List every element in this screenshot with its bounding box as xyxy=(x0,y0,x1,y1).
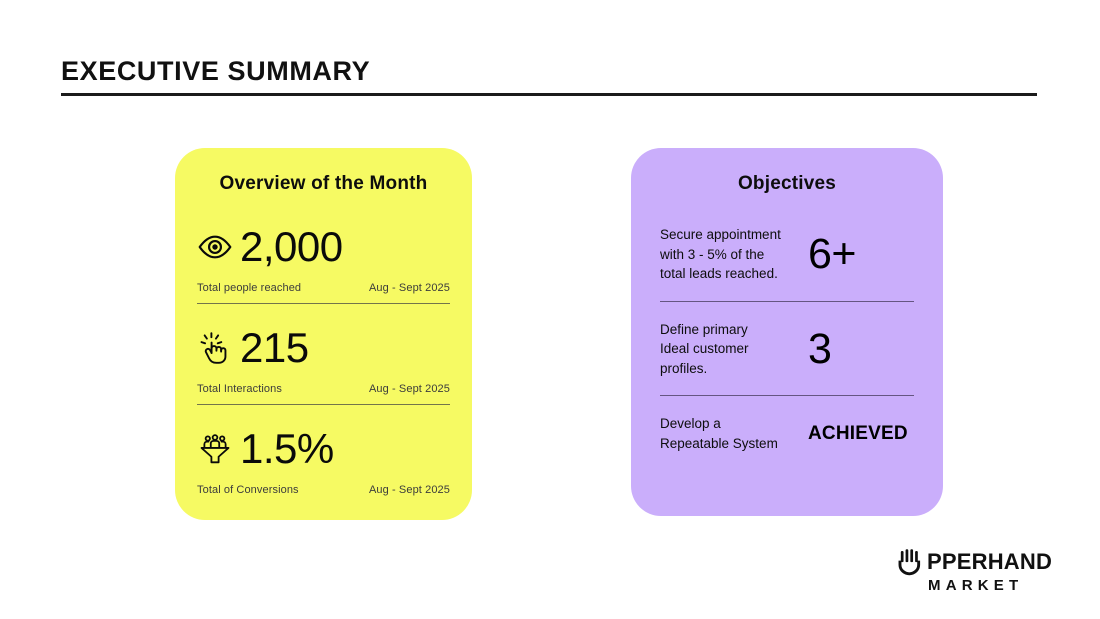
metric-footer: Total people reached Aug - Sept 2025 xyxy=(197,282,450,294)
objective-row: Secure appointment with 3 - 5% of the to… xyxy=(660,225,914,284)
click-hand-icon xyxy=(197,330,233,366)
objective-item: Define primary Ideal customer profiles. … xyxy=(660,320,914,397)
metric-main: 1.5% xyxy=(197,423,450,475)
metric-period: Aug - Sept 2025 xyxy=(369,383,450,395)
objectives-list: Secure appointment with 3 - 5% of the to… xyxy=(660,225,914,454)
metric-value: 2,000 xyxy=(240,226,343,268)
metric-label: Total Interactions xyxy=(197,383,282,395)
metric-period: Aug - Sept 2025 xyxy=(369,484,450,496)
metric-item: 1.5% Total of Conversions Aug - Sept 202… xyxy=(197,423,450,496)
objective-divider xyxy=(660,301,914,302)
title-divider xyxy=(61,93,1037,96)
objective-status: ACHIEVED xyxy=(808,424,914,443)
metric-label: Total people reached xyxy=(197,282,301,294)
objective-item: Secure appointment with 3 - 5% of the to… xyxy=(660,225,914,302)
logo-subtext: MARKET xyxy=(928,578,1042,593)
objective-divider xyxy=(660,395,914,396)
objective-text: Secure appointment with 3 - 5% of the to… xyxy=(660,225,781,284)
metric-footer: Total of Conversions Aug - Sept 2025 xyxy=(197,484,450,496)
logo-wordmark: PPERHAND xyxy=(927,551,1052,573)
conversion-funnel-icon xyxy=(197,431,233,467)
brand-logo: PPERHAND MARKET xyxy=(897,548,1042,596)
metric-divider xyxy=(197,404,450,405)
slide: EXECUTIVE SUMMARY Overview of the Month … xyxy=(0,0,1100,619)
overview-card: Overview of the Month 2,000 Total peopl xyxy=(175,148,472,520)
objectives-card-title: Objectives xyxy=(631,173,943,195)
objectives-card: Objectives Secure appointment with 3 - 5… xyxy=(631,148,943,516)
overview-card-title: Overview of the Month xyxy=(175,173,472,195)
metric-footer: Total Interactions Aug - Sept 2025 xyxy=(197,383,450,395)
metric-item: 215 Total Interactions Aug - Sept 2025 xyxy=(197,322,450,405)
objective-row: Develop a Repeatable System ACHIEVED xyxy=(660,414,914,453)
metric-item: 2,000 Total people reached Aug - Sept 20… xyxy=(197,221,450,304)
eye-icon xyxy=(197,229,233,265)
objective-text: Define primary Ideal customer profiles. xyxy=(660,320,749,379)
metric-label: Total of Conversions xyxy=(197,484,299,496)
objective-item: Develop a Repeatable System ACHIEVED xyxy=(660,414,914,453)
page-title: EXECUTIVE SUMMARY xyxy=(61,56,370,87)
metric-main: 215 xyxy=(197,322,450,374)
metric-value: 215 xyxy=(240,327,309,369)
metrics-list: 2,000 Total people reached Aug - Sept 20… xyxy=(197,221,450,496)
objective-value: 6+ xyxy=(808,233,914,276)
objective-row: Define primary Ideal customer profiles. … xyxy=(660,320,914,379)
metric-main: 2,000 xyxy=(197,221,450,273)
logo-top-row: PPERHAND xyxy=(897,548,1042,576)
metric-value: 1.5% xyxy=(240,428,334,470)
upperhand-u-icon xyxy=(897,548,925,576)
objective-text: Develop a Repeatable System xyxy=(660,414,778,453)
metric-divider xyxy=(197,303,450,304)
objective-value: 3 xyxy=(808,328,914,371)
metric-period: Aug - Sept 2025 xyxy=(369,282,450,294)
